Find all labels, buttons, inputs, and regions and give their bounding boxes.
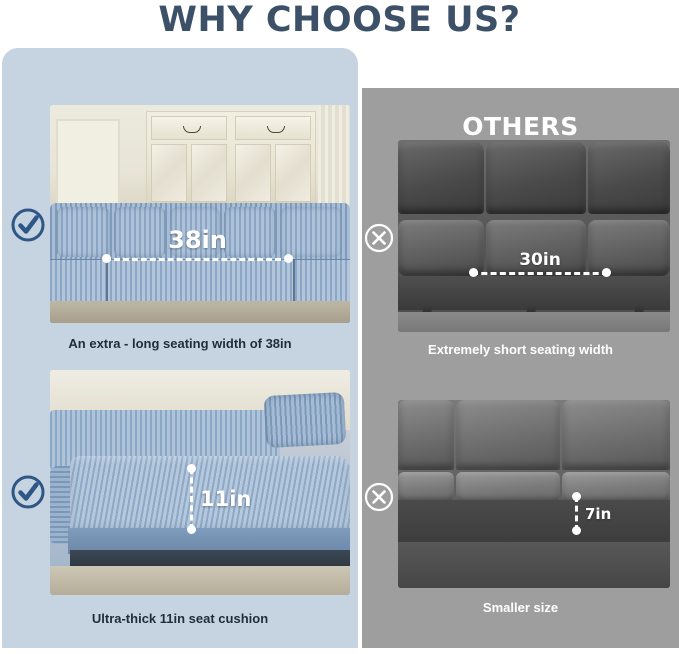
measurement-label: 38in — [105, 226, 290, 254]
sofa-back-cushion — [398, 400, 454, 470]
sofa-seat-divider — [293, 259, 295, 307]
decor-floor — [398, 312, 670, 332]
x-circle-icon — [361, 479, 397, 515]
measurement-endpoint — [572, 526, 581, 535]
decor-floor — [50, 566, 350, 595]
check-circle-icon — [10, 207, 46, 243]
sofa-back-cushion — [562, 400, 670, 470]
sofa-backrest — [398, 140, 670, 216]
check-circle-icon — [10, 474, 46, 510]
sofa-seat-divider — [106, 259, 108, 307]
decor-cabinet — [146, 111, 316, 203]
measurement-endpoint — [187, 464, 196, 473]
measurement-label: 7in — [585, 505, 611, 523]
measurement-line — [472, 272, 608, 275]
decor-cabinet-door — [191, 144, 227, 202]
ours-photo-wide-seat — [50, 105, 350, 323]
decor-floor — [50, 301, 350, 323]
others-caption-1: Extremely short seating width — [362, 342, 679, 357]
sofa-front-panel — [398, 500, 670, 548]
page-title: WHY CHOOSE US? — [0, 0, 679, 42]
sofa-seat — [398, 470, 670, 504]
measurement-label: 11in — [200, 487, 251, 511]
sofa-back-cushion — [588, 142, 670, 214]
ours-photo-thick-cushion — [50, 370, 350, 595]
sofa-back-pillow — [56, 207, 110, 257]
others-caption-2: Smaller size — [362, 600, 679, 615]
sofa-back-cushion — [456, 400, 560, 470]
decor-cabinet-door — [151, 144, 187, 202]
decor-cabinet-door — [235, 144, 271, 202]
measurement-endpoint — [102, 254, 111, 263]
measurement-endpoint — [572, 492, 581, 501]
sofa-backrest — [398, 400, 670, 472]
sofa-seat-cushion — [456, 472, 560, 502]
sofa-back-cushion — [398, 142, 484, 214]
sofa-base — [398, 542, 670, 588]
ours-caption-1: An extra - long seating width of 38in — [2, 336, 358, 351]
sofa-seat-cushion — [398, 472, 454, 502]
others-photo-thin-cushion — [398, 400, 670, 588]
decor-cabinet-door — [275, 144, 311, 202]
ours-caption-2: Ultra-thick 11in seat cushion — [2, 611, 358, 626]
measurement-line — [105, 258, 290, 261]
measurement-endpoint — [187, 525, 196, 534]
others-photo-narrow-seat — [398, 140, 670, 332]
measurement-label: 30in — [472, 250, 608, 270]
sofa-back-cushion — [486, 142, 586, 214]
measurement-line — [190, 468, 193, 530]
x-circle-icon — [361, 220, 397, 256]
sofa-base — [398, 276, 670, 310]
measurement-endpoint — [284, 254, 293, 263]
sofa-accent-pillow — [264, 392, 347, 448]
others-heading: OTHERS — [362, 112, 679, 141]
